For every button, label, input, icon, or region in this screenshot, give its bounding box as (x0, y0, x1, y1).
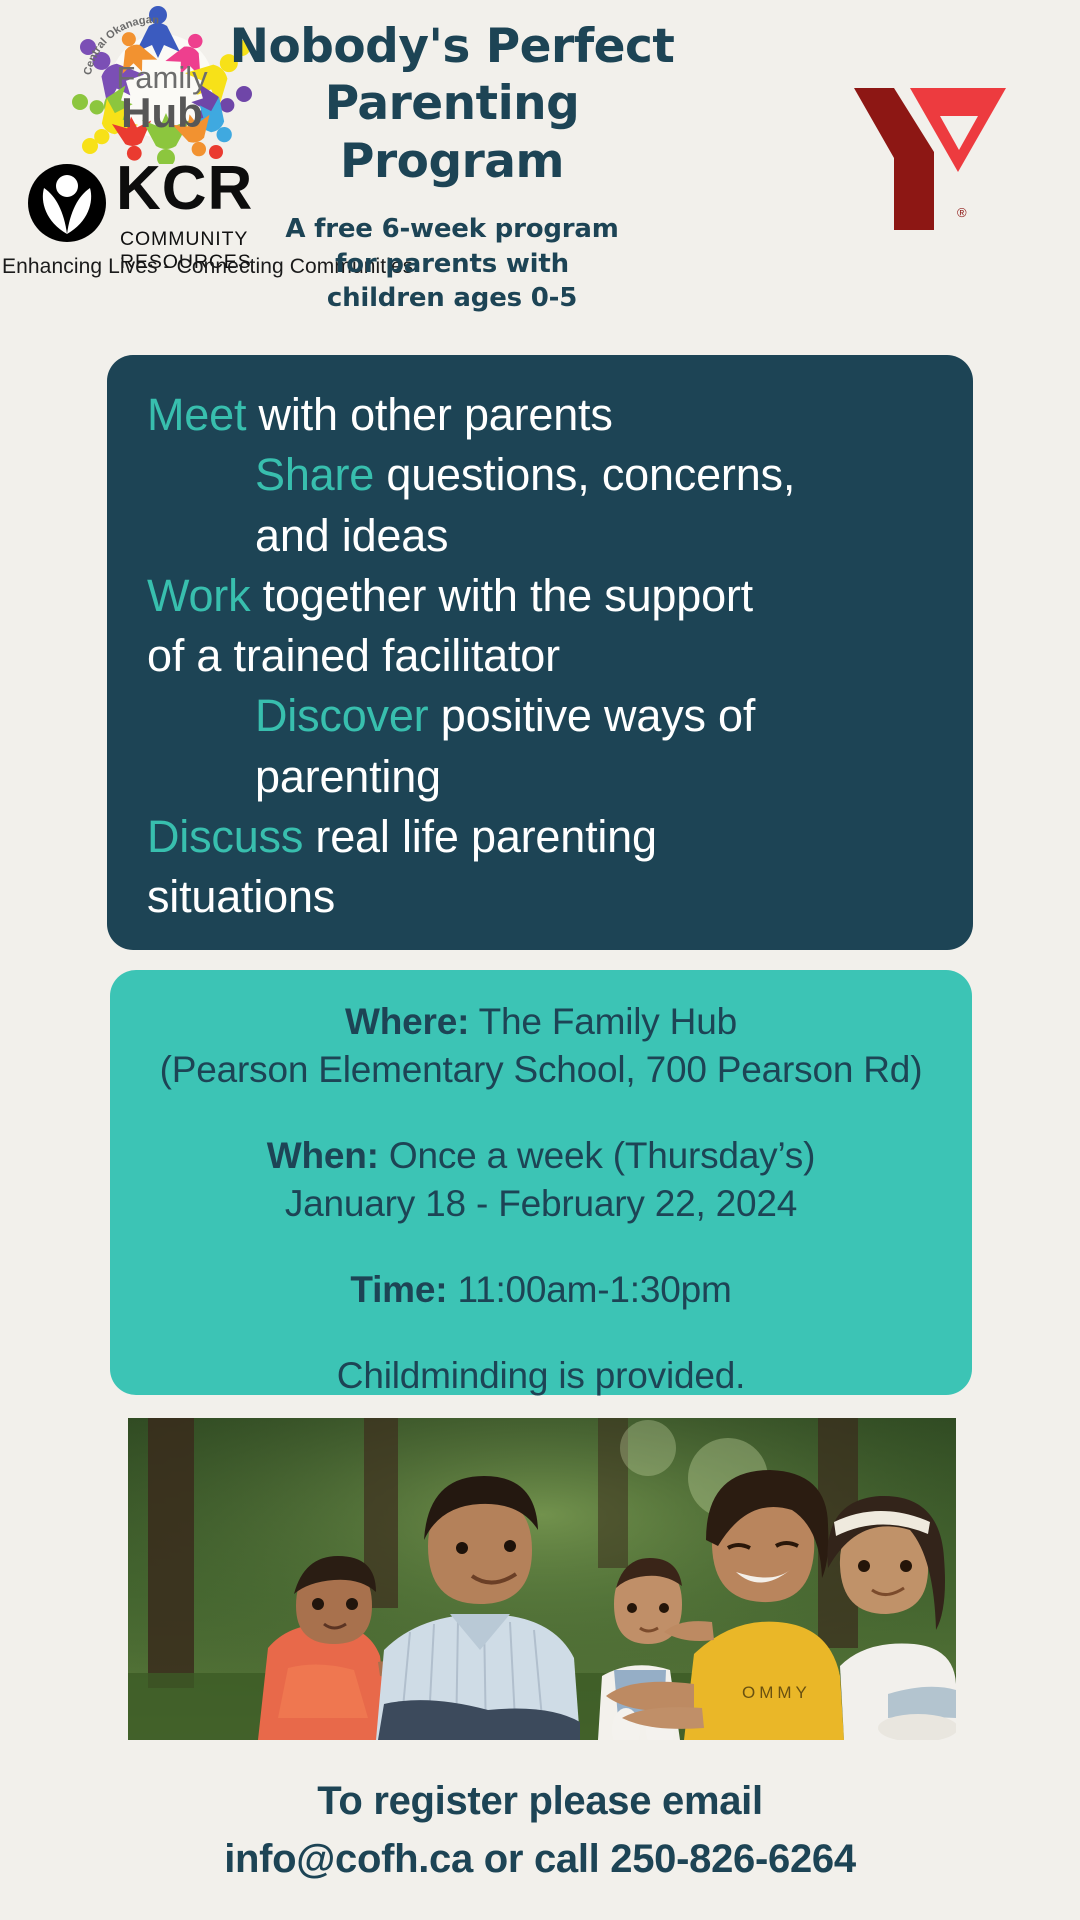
poster-header: Central Okanagan Family Hub KCR COMMUNIT… (0, 0, 1080, 350)
when-label: When: (267, 1135, 379, 1176)
childminding-note: Childminding is provided. (136, 1352, 946, 1400)
benefit-text: real life parenting (303, 811, 657, 862)
benefit-line: Discover positive ways of (147, 686, 933, 746)
ymca-logo (848, 80, 1008, 235)
benefit-keyword: Work (147, 570, 250, 621)
subtitle-line-2: for parents with (212, 247, 692, 282)
time-line: Time: 11:00am-1:30pm (136, 1266, 946, 1314)
footer: To register please email info@cofh.ca or… (0, 1772, 1080, 1888)
benefit-line: Discuss real life parenting (147, 807, 933, 867)
benefit-text: of a trained facilitator (147, 630, 560, 681)
benefit-line: of a trained facilitator (147, 626, 933, 686)
benefit-keyword: Share (255, 449, 374, 500)
registered-trademark-icon: ® (957, 205, 967, 220)
kcr-logo-mark (26, 162, 108, 244)
register-line-1: To register please email (0, 1772, 1080, 1830)
benefit-line: Share questions, concerns, (147, 445, 933, 505)
time-value: 11:00am-1:30pm (447, 1269, 731, 1310)
benefit-text: parenting (255, 751, 441, 802)
spacer (136, 1094, 946, 1132)
benefit-text: together with the support (250, 570, 753, 621)
when-line-2: January 18 - February 22, 2024 (136, 1180, 946, 1228)
family-hub-line2: Hub (121, 89, 203, 136)
page-title: Nobody's Perfect Parenting Program (212, 18, 692, 190)
benefit-text: positive ways of (428, 690, 755, 741)
benefit-line: situations (147, 867, 933, 927)
benefit-text: questions, concerns, (374, 449, 795, 500)
where-label: Where: (345, 1001, 469, 1042)
benefit-line: Work together with the support (147, 566, 933, 626)
spacer (136, 1314, 946, 1352)
title-line-1: Nobody's Perfect (212, 18, 692, 75)
benefit-text: and ideas (255, 510, 448, 561)
where-line-2: (Pearson Elementary School, 700 Pearson … (136, 1046, 946, 1094)
benefit-keyword: Discover (255, 690, 428, 741)
title-block: Nobody's Perfect Parenting Program A fre… (212, 18, 692, 316)
benefit-line: parenting (147, 747, 933, 807)
benefit-keyword: Meet (147, 389, 246, 440)
family-photo: OMMY (128, 1418, 956, 1740)
benefit-keyword: Discuss (147, 811, 303, 862)
svg-text:OMMY: OMMY (742, 1683, 811, 1702)
where-line: Where: The Family Hub (136, 998, 946, 1046)
benefit-line: Meet with other parents (147, 385, 933, 445)
subtitle-line-1: A free 6-week program (212, 212, 692, 247)
benefit-text: with other parents (246, 389, 612, 440)
time-label: Time: (350, 1269, 447, 1310)
subtitle-line-3: children ages 0-5 (212, 281, 692, 316)
when-line: When: Once a week (Thursday’s) (136, 1132, 946, 1180)
benefit-text: situations (147, 871, 335, 922)
details-box: Where: The Family Hub (Pearson Elementar… (110, 970, 972, 1395)
register-line-2: info@cofh.ca or call 250-826-6264 (0, 1830, 1080, 1888)
where-value: The Family Hub (469, 1001, 737, 1042)
page-subtitle: A free 6-week program for parents with c… (212, 212, 692, 316)
benefit-line: and ideas (147, 506, 933, 566)
when-value: Once a week (Thursday’s) (379, 1135, 815, 1176)
title-line-2: Parenting Program (212, 75, 692, 190)
spacer (136, 1228, 946, 1266)
benefits-box: Meet with other parents Share questions,… (107, 355, 973, 950)
